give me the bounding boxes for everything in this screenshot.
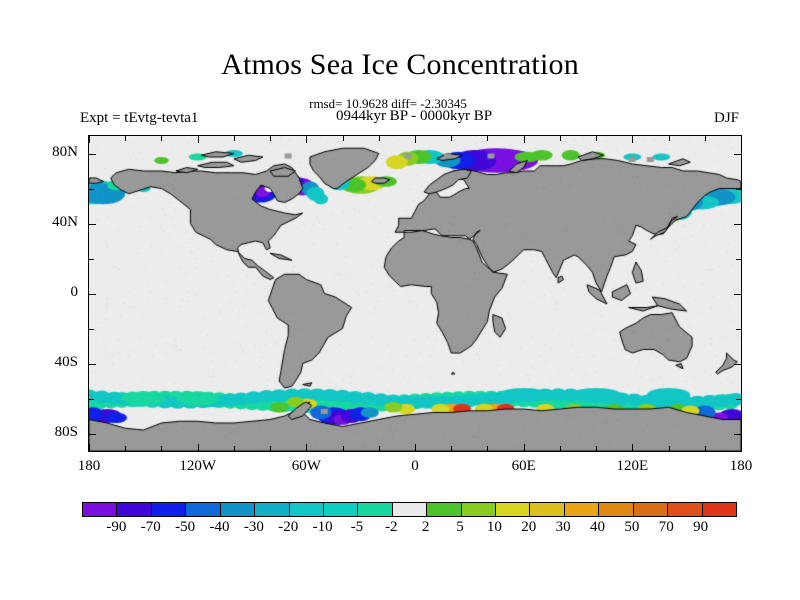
x-tick-top	[234, 136, 235, 141]
colorbar-band-2	[152, 503, 186, 516]
x-tick-top	[379, 136, 380, 141]
y-tick	[89, 154, 96, 155]
y-tick	[89, 189, 94, 190]
sea-ice-anomaly-map	[89, 136, 741, 451]
colorbar-tick: 90	[671, 519, 731, 536]
colorbar-band-10	[427, 503, 461, 516]
x-tick-top	[705, 136, 706, 141]
y-tick-right	[734, 154, 741, 155]
experiment-label: Expt = tEvtg-tevta1	[80, 110, 198, 127]
x-tick-top	[560, 136, 561, 141]
x-tick	[560, 446, 561, 451]
x-tick-top	[524, 136, 525, 143]
x-tick-top	[596, 136, 597, 141]
y-tick-right	[734, 364, 741, 365]
y-tick	[89, 294, 96, 295]
colorbar-band-11	[462, 503, 496, 516]
x-tick-top	[306, 136, 307, 143]
x-tick	[451, 446, 452, 451]
x-tick-top	[343, 136, 344, 141]
colorbar-band-15	[599, 503, 633, 516]
colorbar-tick-labels: -90-70-50-40-30-20-10-5-2251020304050709…	[82, 519, 737, 541]
x-tick	[669, 446, 670, 451]
x-tick-top	[198, 136, 199, 143]
colorbar-band-14	[565, 503, 599, 516]
x-tick-top	[451, 136, 452, 141]
colorbar-band-18	[703, 503, 736, 516]
colorbar-band-3	[186, 503, 220, 516]
x-axis-label: 60E	[489, 458, 559, 475]
x-tick-top	[89, 136, 90, 143]
colorbar-band-4	[221, 503, 255, 516]
colorbar-band-8	[358, 503, 392, 516]
x-tick	[343, 446, 344, 451]
x-tick	[741, 444, 742, 451]
x-tick	[632, 444, 633, 451]
y-axis-label: 40S	[0, 354, 78, 371]
y-axis-label: 80S	[0, 424, 78, 441]
y-tick-right	[734, 294, 741, 295]
y-axis-label: 80N	[0, 144, 78, 161]
x-tick	[596, 446, 597, 451]
colorbar	[82, 502, 737, 517]
x-tick-top	[125, 136, 126, 141]
x-tick	[270, 446, 271, 451]
x-axis-label: 60W	[271, 458, 341, 475]
y-tick-right	[736, 259, 741, 260]
x-tick-top	[741, 136, 742, 143]
x-tick-top	[415, 136, 416, 143]
colorbar-band-16	[634, 503, 668, 516]
y-tick-right	[736, 189, 741, 190]
colorbar-band-12	[496, 503, 530, 516]
figure-root: Atmos Sea Ice Concentration rmsd= 10.962…	[0, 0, 800, 600]
y-tick-right	[734, 434, 741, 435]
y-tick-right	[734, 224, 741, 225]
y-tick	[89, 434, 96, 435]
x-tick	[379, 446, 380, 451]
colorbar-band-13	[530, 503, 564, 516]
x-tick-top	[669, 136, 670, 141]
x-axis-label: 120E	[597, 458, 667, 475]
x-tick-top	[487, 136, 488, 141]
colorbar-band-9	[393, 503, 427, 516]
y-axis-label: 0	[0, 284, 78, 301]
x-tick	[705, 446, 706, 451]
x-tick-top	[270, 136, 271, 141]
colorbar-band-5	[255, 503, 289, 516]
x-tick	[125, 446, 126, 451]
colorbar-band-7	[324, 503, 358, 516]
y-tick	[89, 259, 94, 260]
x-axis-label: 120W	[163, 458, 233, 475]
page-title: Atmos Sea Ice Concentration	[0, 48, 800, 82]
y-tick	[89, 364, 96, 365]
x-tick	[161, 446, 162, 451]
x-tick	[234, 446, 235, 451]
colorbar-band-1	[117, 503, 151, 516]
y-tick-right	[736, 329, 741, 330]
y-tick	[89, 224, 96, 225]
x-axis-label: 180	[54, 458, 124, 475]
x-tick	[415, 444, 416, 451]
x-tick-top	[632, 136, 633, 143]
colorbar-band-6	[290, 503, 324, 516]
x-tick-top	[161, 136, 162, 141]
x-tick	[524, 444, 525, 451]
colorbar-band-17	[668, 503, 702, 516]
y-tick-right	[736, 399, 741, 400]
y-axis-label: 40N	[0, 214, 78, 231]
y-tick	[89, 399, 94, 400]
map-plot-area	[88, 135, 742, 452]
season-label: DJF	[714, 110, 739, 127]
x-tick	[89, 444, 90, 451]
x-axis-label: 180	[706, 458, 776, 475]
colorbar-band-0	[83, 503, 117, 516]
x-tick	[198, 444, 199, 451]
x-axis-label: 0	[380, 458, 450, 475]
x-tick	[306, 444, 307, 451]
x-tick	[487, 446, 488, 451]
y-tick	[89, 329, 94, 330]
